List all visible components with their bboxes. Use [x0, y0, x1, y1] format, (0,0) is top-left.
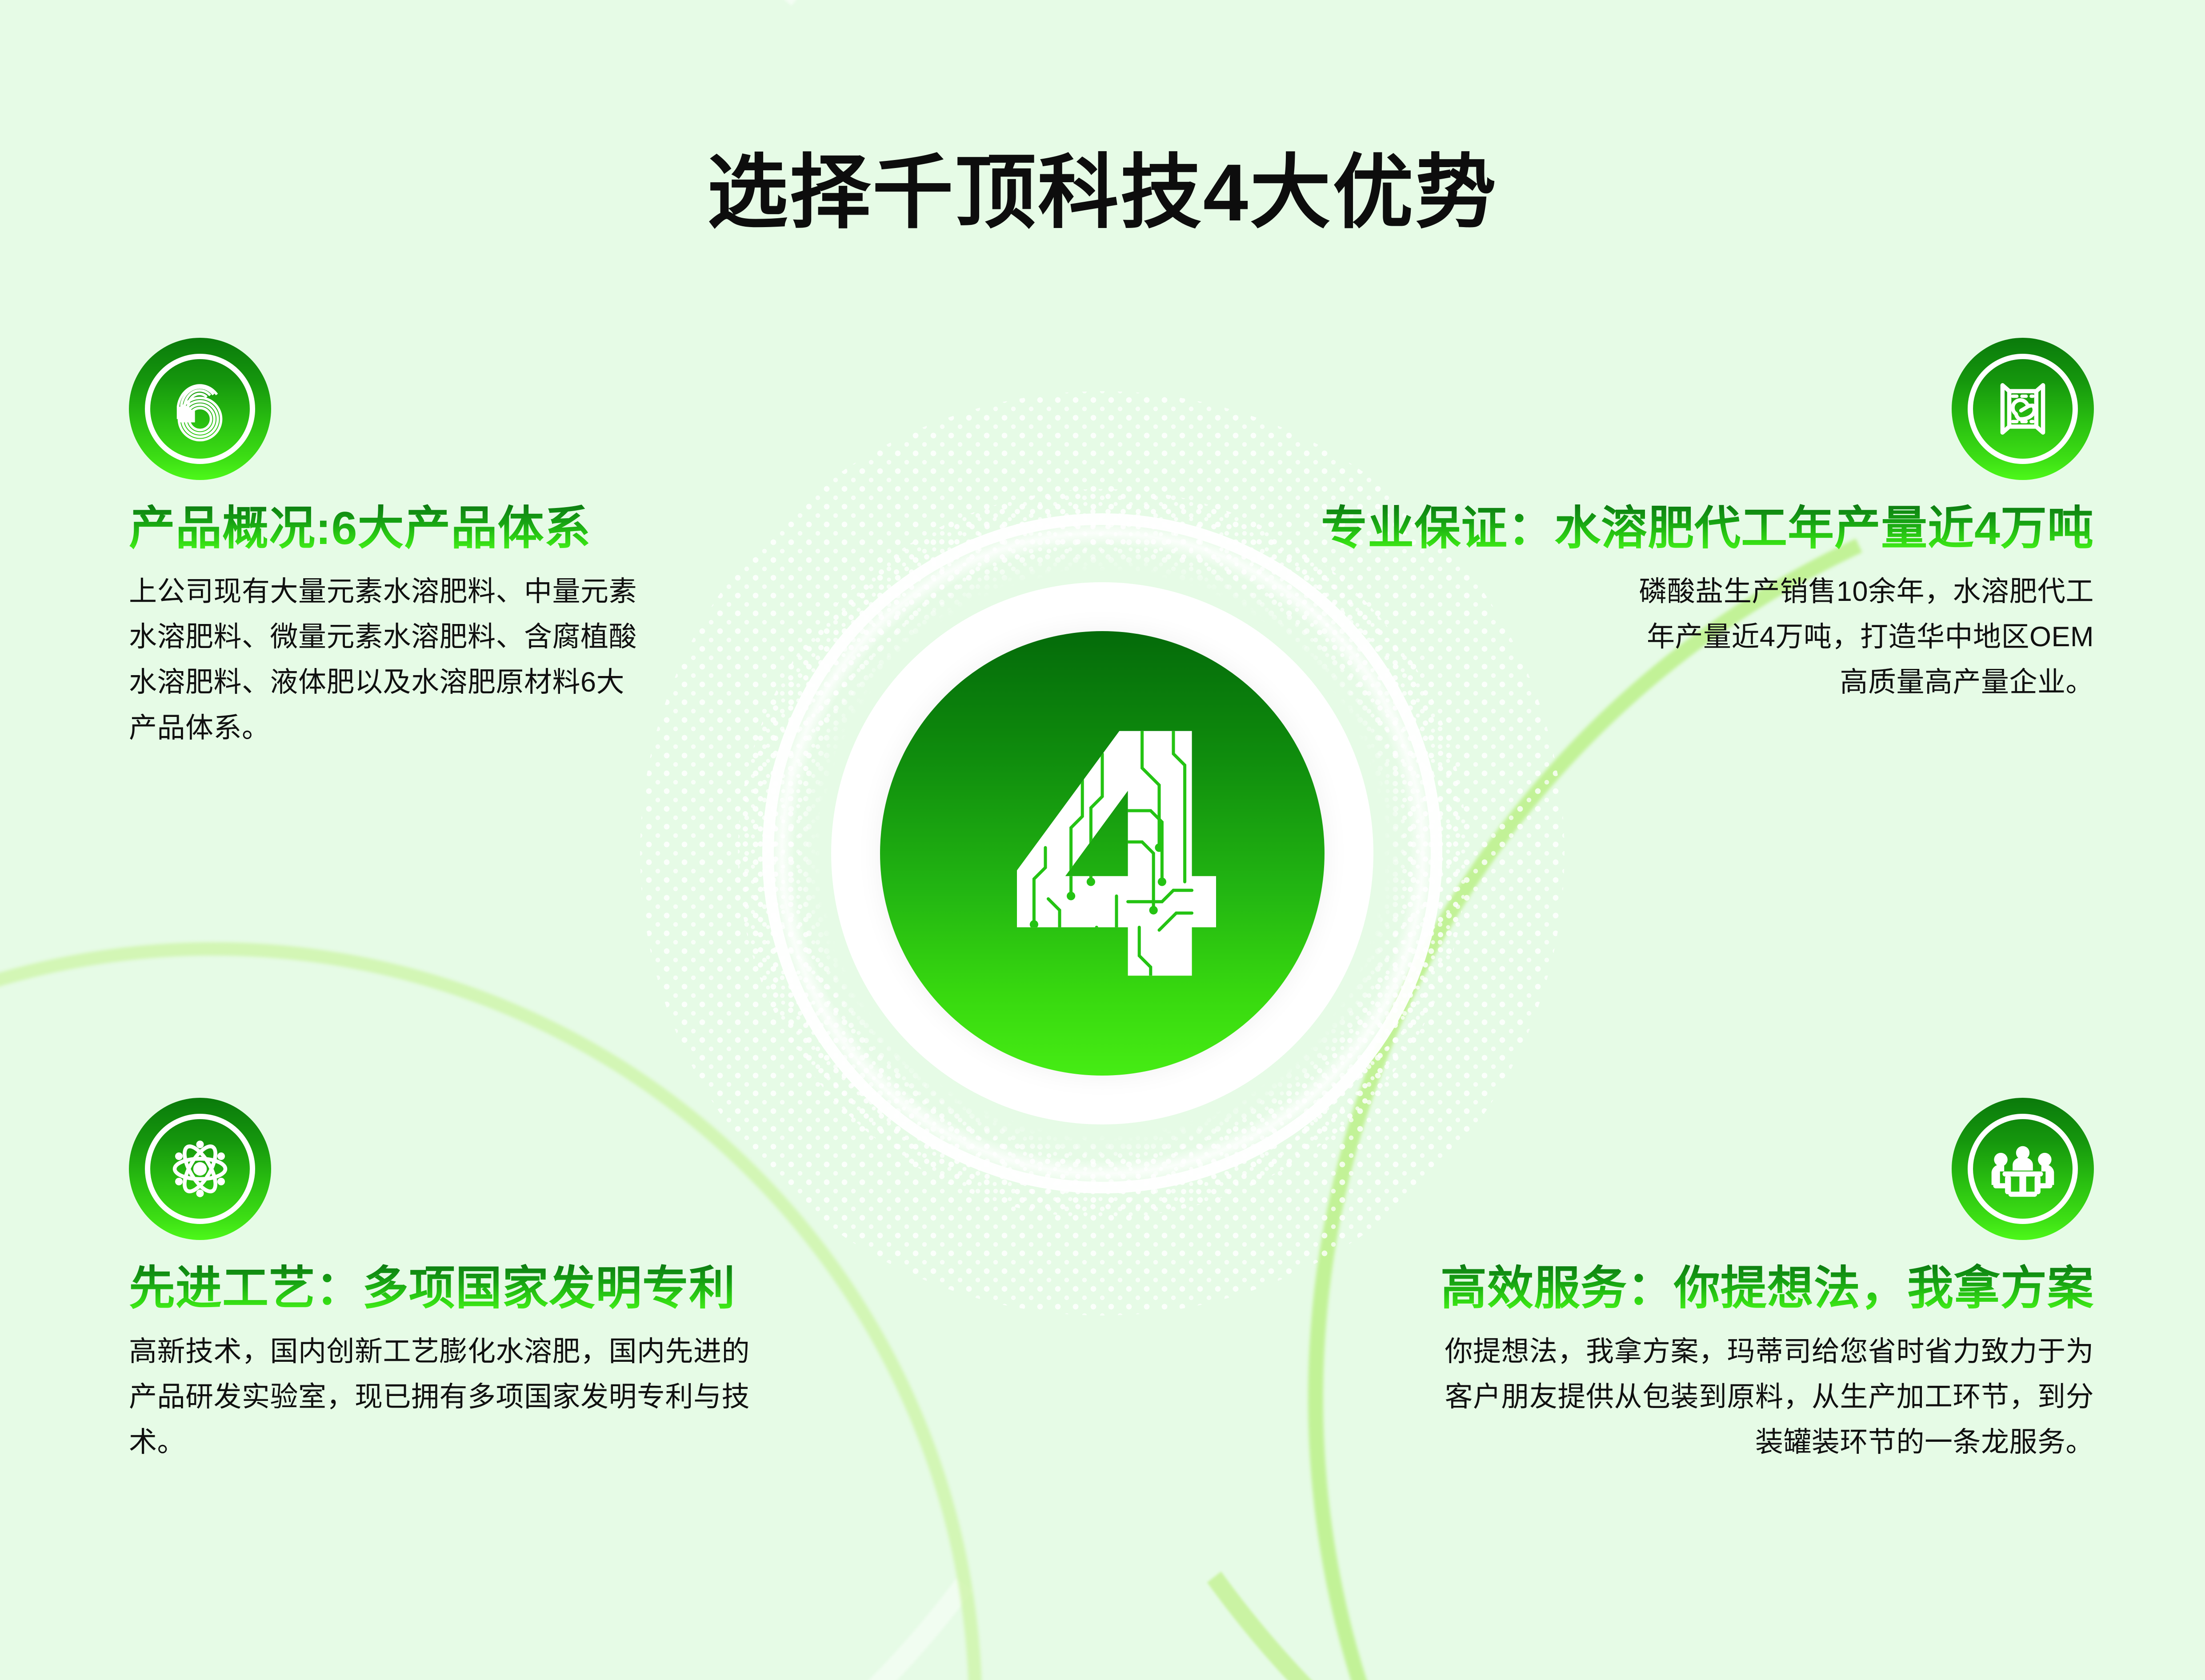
fertilizer-bag-icon — [1952, 338, 2094, 480]
atom-icon — [129, 1098, 271, 1240]
page-title: 选择千顶科技4大优势 — [0, 152, 2205, 233]
meeting-people-glyph — [1981, 1127, 2065, 1211]
meeting-people-icon — [1952, 1098, 2094, 1240]
feature-heading: 先进工艺：多项国家发明专利 — [129, 1263, 929, 1314]
feature-heading: 专业保证：水溶肥代工年产量近4万吨 — [1249, 503, 2094, 554]
feature-professional-guarantee: 专业保证：水溶肥代工年产量近4万吨 磷酸盐生产销售10余年，水溶肥代工年产量近4… — [1249, 338, 2094, 705]
feature-efficient-service: 高效服务：你提想法，我拿方案 你提想法，我拿方案，玛蒂司给您省时省力致力于为客户… — [1258, 1098, 2094, 1465]
feature-body: 上公司现有大量元素水溶肥料、中量元素水溶肥料、微量元素水溶肥料、含腐植酸水溶肥料… — [129, 569, 649, 750]
feature-heading: 高效服务：你提想法，我拿方案 — [1258, 1263, 2094, 1314]
feature-body: 你提想法，我拿方案，玛蒂司给您省时省力致力于为客户朋友提供从包装到原料，从生产加… — [1441, 1329, 2094, 1465]
feature-advanced-process: 先进工艺：多项国家发明专利 高新技术，国内创新工艺膨化水溶肥，国内先进的产品研发… — [129, 1098, 929, 1465]
feature-body: 高新技术，国内创新工艺膨化水溶肥，国内先进的产品研发实验室，现已拥有多项国家发明… — [129, 1329, 778, 1465]
feature-product-overview: 产品概况:6大产品体系 上公司现有大量元素水溶肥料、中量元素水溶肥料、微量元素水… — [129, 338, 720, 751]
atom-glyph — [158, 1127, 242, 1211]
number-six-glyph — [158, 367, 242, 451]
fertilizer-bag-glyph — [1981, 367, 2065, 451]
number-four-circuit-icon — [960, 711, 1245, 996]
feature-heading: 产品概况:6大产品体系 — [129, 503, 720, 554]
number-six-icon — [129, 338, 271, 480]
feature-body: 磷酸盐生产销售10余年，水溶肥代工年产量近4万吨，打造华中地区OEM高质量高产量… — [1636, 569, 2094, 705]
